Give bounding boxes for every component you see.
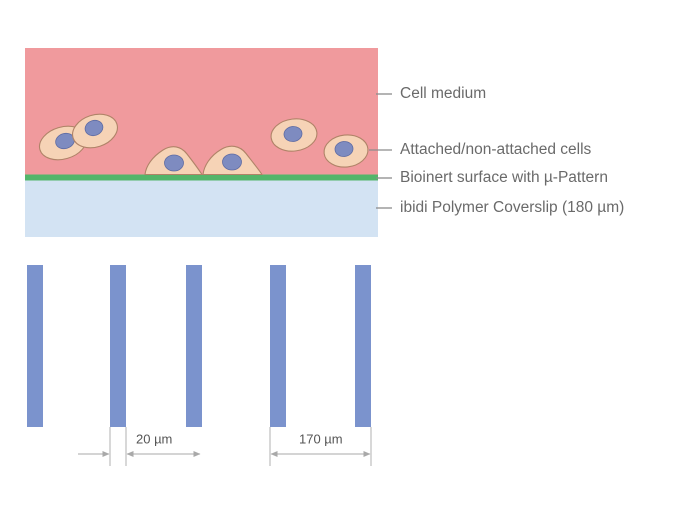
micro-pattern-figure: Cell medium Attached/non-attached cells … — [0, 0, 700, 524]
bioinert-surface-layer — [25, 175, 378, 181]
polymer-coverslip-layer — [25, 180, 378, 237]
pattern-panel: 20 µm 170 µm — [27, 265, 371, 466]
dimension-label-bar-width: 20 µm — [136, 431, 172, 446]
pattern-bar — [186, 265, 202, 427]
label-bioinert-surface: Bioinert surface with µ-Pattern — [400, 169, 608, 186]
label-attached-non-attached-cells: Attached/non-attached cells — [400, 141, 592, 158]
cross-section-panel: Cell medium Attached/non-attached cells … — [25, 48, 624, 237]
label-polymer-coverslip: ibidi Polymer Coverslip (180 µm) — [400, 199, 624, 216]
label-cell-medium: Cell medium — [400, 85, 486, 102]
pattern-bar — [355, 265, 371, 427]
pattern-bar — [270, 265, 286, 427]
dimension-label-pitch: 170 µm — [299, 431, 343, 446]
pattern-bar — [27, 265, 43, 427]
pattern-bar — [110, 265, 126, 427]
